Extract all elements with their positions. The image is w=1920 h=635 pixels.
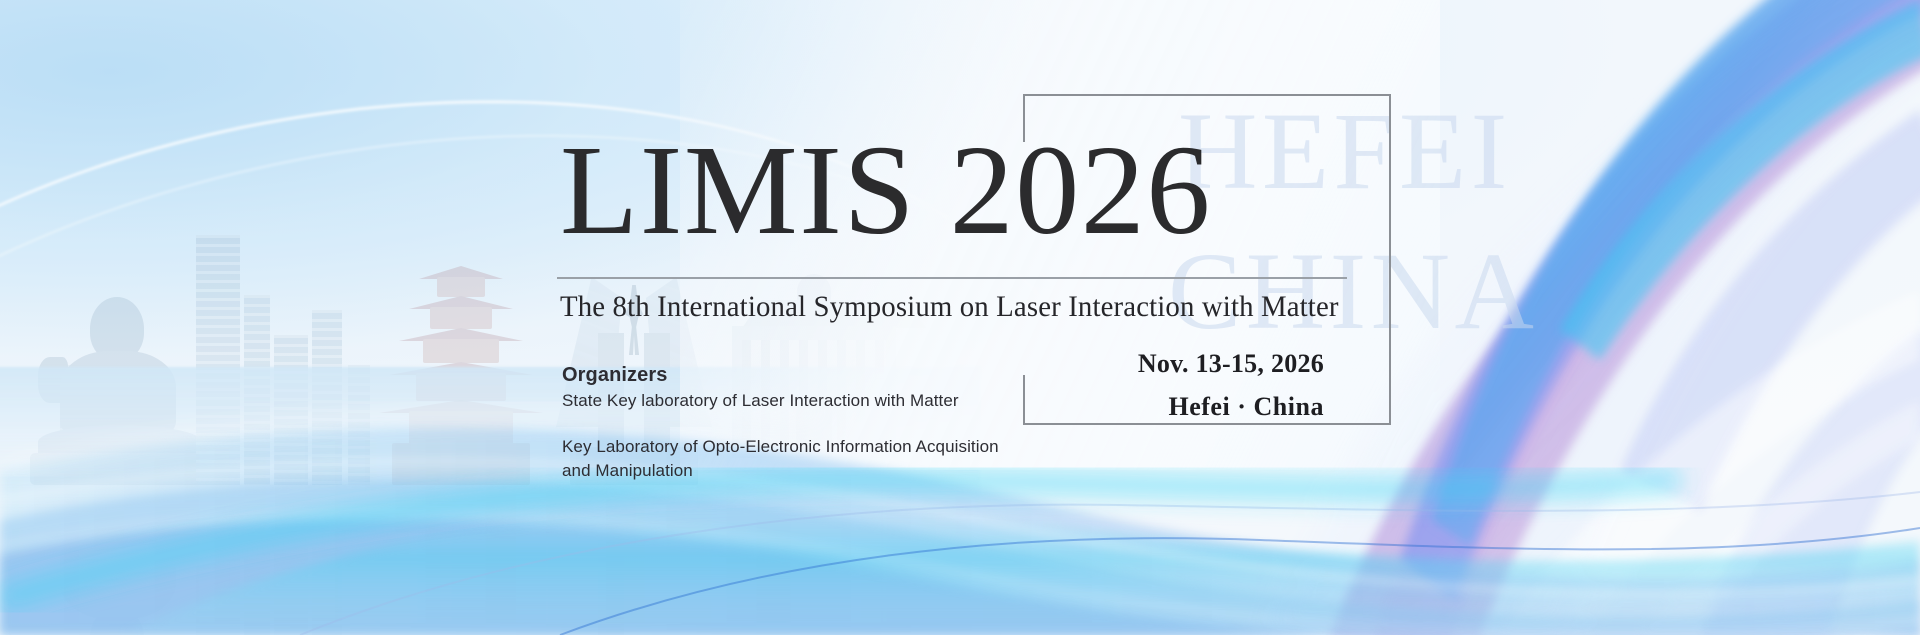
event-location: Hefei · China [1040, 393, 1324, 422]
organizers-block: Organizers State Key laboratory of Laser… [562, 362, 999, 482]
title-divider-rule [557, 277, 1347, 279]
organizer-name-1: State Key laboratory of Laser Interactio… [562, 389, 999, 413]
organizer-name-2-line-1: Key Laboratory of Opto-Electronic Inform… [562, 435, 999, 459]
banner-content: LIMIS 2026 The 8th International Symposi… [0, 0, 1920, 635]
event-title: LIMIS 2026 [560, 126, 1212, 254]
event-date: Nov. 13-15, 2026 [1040, 350, 1324, 379]
conference-banner: HEFEI CHINA LIMIS 2026 The 8th Internati… [0, 0, 1920, 635]
event-meta-block: Nov. 13-15, 2026 Hefei · China [1040, 350, 1324, 421]
event-subtitle: The 8th International Symposium on Laser… [560, 290, 1339, 324]
organizers-heading: Organizers [562, 362, 999, 389]
organizer-name-2-line-2: and Manipulation [562, 459, 999, 483]
organizer-block-secondary: Key Laboratory of Opto-Electronic Inform… [562, 435, 999, 483]
